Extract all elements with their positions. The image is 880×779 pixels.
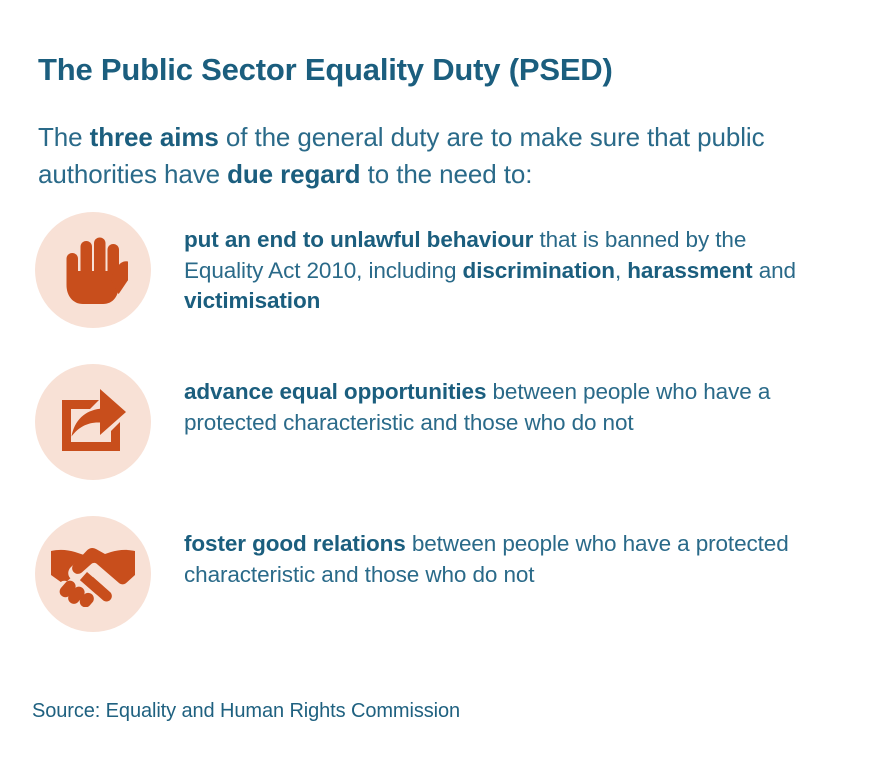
icon-circle-3 bbox=[35, 516, 151, 632]
aim-item-good-relations: foster good relations between people who… bbox=[0, 516, 880, 668]
icon-circle-2 bbox=[35, 364, 151, 480]
aim-item-unlawful-behaviour: put an end to unlawful behaviour that is… bbox=[0, 212, 880, 364]
source-note: Source: Equality and Human Rights Commis… bbox=[32, 700, 460, 723]
raised-hand-stop-icon bbox=[58, 231, 128, 309]
aim-text-1: put an end to unlawful behaviour that is… bbox=[184, 225, 880, 317]
aim-text-3: foster good relations between people who… bbox=[184, 529, 880, 590]
aim-item-equal-opportunities: advance equal opportunities between peop… bbox=[0, 364, 880, 516]
page-title: The Public Sector Equality Duty (PSED) bbox=[38, 52, 613, 88]
page-subtitle: The three aims of the general duty are t… bbox=[38, 119, 828, 193]
share-export-arrow-icon bbox=[58, 387, 128, 457]
icon-circle-1 bbox=[35, 212, 151, 328]
psed-infographic: The Public Sector Equality Duty (PSED) T… bbox=[0, 0, 880, 779]
aim-text-2: advance equal opportunities between peop… bbox=[184, 377, 880, 438]
handshake-icon bbox=[50, 541, 136, 607]
aims-list: put an end to unlawful behaviour that is… bbox=[0, 212, 880, 668]
